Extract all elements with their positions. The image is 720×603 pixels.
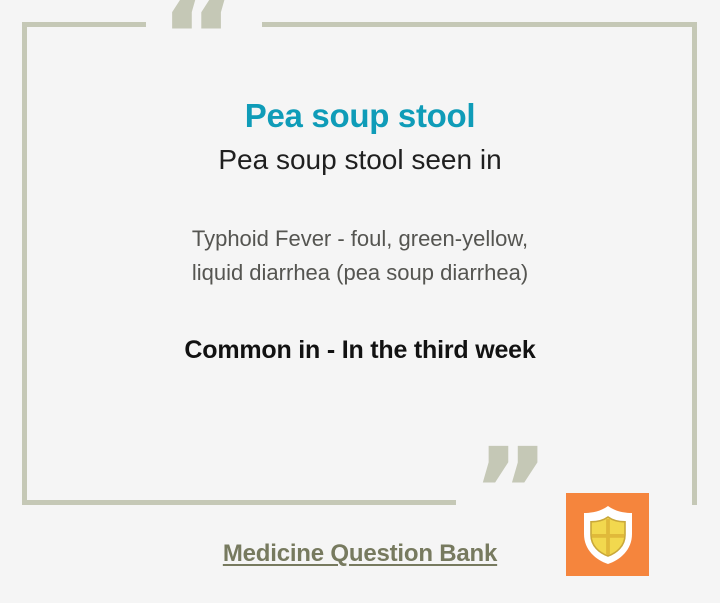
quote-card: “ ” Pea soup stool Pea soup stool seen i… — [0, 0, 720, 603]
shield-icon — [580, 504, 636, 566]
card-detail-text: Typhoid Fever - foul, green-yellow, liqu… — [60, 222, 660, 290]
brand-logo-badge[interactable] — [566, 493, 649, 576]
frame-border-right — [692, 22, 697, 505]
opening-quote-icon: “ — [160, 0, 240, 96]
detail-line-1: Typhoid Fever - foul, green-yellow, — [192, 226, 528, 251]
card-title: Pea soup stool — [60, 96, 660, 136]
detail-line-2: liquid diarrhea (pea soup diarrhea) — [192, 260, 528, 285]
frame-border-left — [22, 22, 27, 505]
card-content: Pea soup stool Pea soup stool seen in Ty… — [60, 96, 660, 365]
frame-border-bottom — [22, 500, 456, 505]
closing-quote-icon: ” — [472, 432, 552, 550]
brand-name-link[interactable]: Medicine Question Bank — [223, 540, 497, 568]
frame-border-top-right — [262, 22, 697, 27]
frame-border-top-left — [22, 22, 146, 27]
card-subtitle: Pea soup stool seen in — [60, 142, 660, 178]
card-common-in-text: Common in - In the third week — [60, 336, 660, 365]
